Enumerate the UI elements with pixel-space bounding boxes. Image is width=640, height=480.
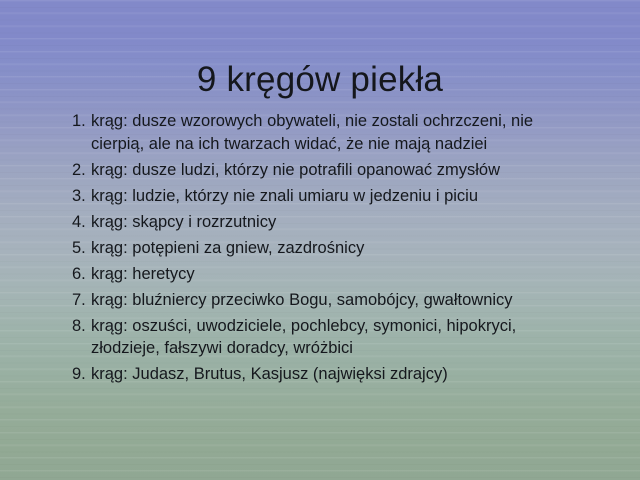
list-item-label: krąg: ludzie, którzy nie znali umiaru w … <box>91 185 572 208</box>
list-item-label: krąg: dusze wzorowych obywateli, nie zos… <box>91 110 572 155</box>
list-item: 6. krąg: heretycy <box>72 263 572 286</box>
list-item-label: krąg: oszuści, uwodziciele, pochlebcy, s… <box>91 315 572 360</box>
list-item-marker: 8. <box>72 315 89 338</box>
list-item-marker: 3. <box>72 185 89 208</box>
list-item-marker: 6. <box>72 263 89 286</box>
slide-content: 9 kręgów piekła 1. krąg: dusze wzorowych… <box>0 0 640 480</box>
list-item-label: krąg: bluźniercy przeciwko Bogu, samobój… <box>91 289 572 312</box>
list-item-marker: 5. <box>72 237 89 260</box>
list-item-label: krąg: skąpcy i rozrzutnicy <box>91 211 572 234</box>
circles-of-hell-list: 1. krąg: dusze wzorowych obywateli, nie … <box>72 110 572 389</box>
list-item-label: krąg: potępieni za gniew, zazdrośnicy <box>91 237 572 260</box>
list-item: 3. krąg: ludzie, którzy nie znali umiaru… <box>72 185 572 208</box>
list-item: 8. krąg: oszuści, uwodziciele, pochlebcy… <box>72 315 572 360</box>
list-item-marker: 1. <box>72 110 89 133</box>
list-item: 2. krąg: dusze ludzi, którzy nie potrafi… <box>72 159 572 182</box>
list-item-marker: 7. <box>72 289 89 312</box>
list-item-label: krąg: dusze ludzi, którzy nie potrafili … <box>91 159 572 182</box>
list-item: 5. krąg: potępieni za gniew, zazdrośnicy <box>72 237 572 260</box>
list-item: 7. krąg: bluźniercy przeciwko Bogu, samo… <box>72 289 572 312</box>
list-item-marker: 4. <box>72 211 89 234</box>
list-item-label: krąg: Judasz, Brutus, Kasjusz (najwięksi… <box>91 363 572 386</box>
page-title: 9 kręgów piekła <box>0 59 640 101</box>
list-item: 9. krąg: Judasz, Brutus, Kasjusz (najwię… <box>72 363 572 386</box>
list-item: 4. krąg: skąpcy i rozrzutnicy <box>72 211 572 234</box>
list-item-label: krąg: heretycy <box>91 263 572 286</box>
presentation-slide: 9 kręgów piekła 1. krąg: dusze wzorowych… <box>0 0 640 480</box>
list-item: 1. krąg: dusze wzorowych obywateli, nie … <box>72 110 572 155</box>
list-item-marker: 2. <box>72 159 89 182</box>
list-item-marker: 9. <box>72 363 89 386</box>
